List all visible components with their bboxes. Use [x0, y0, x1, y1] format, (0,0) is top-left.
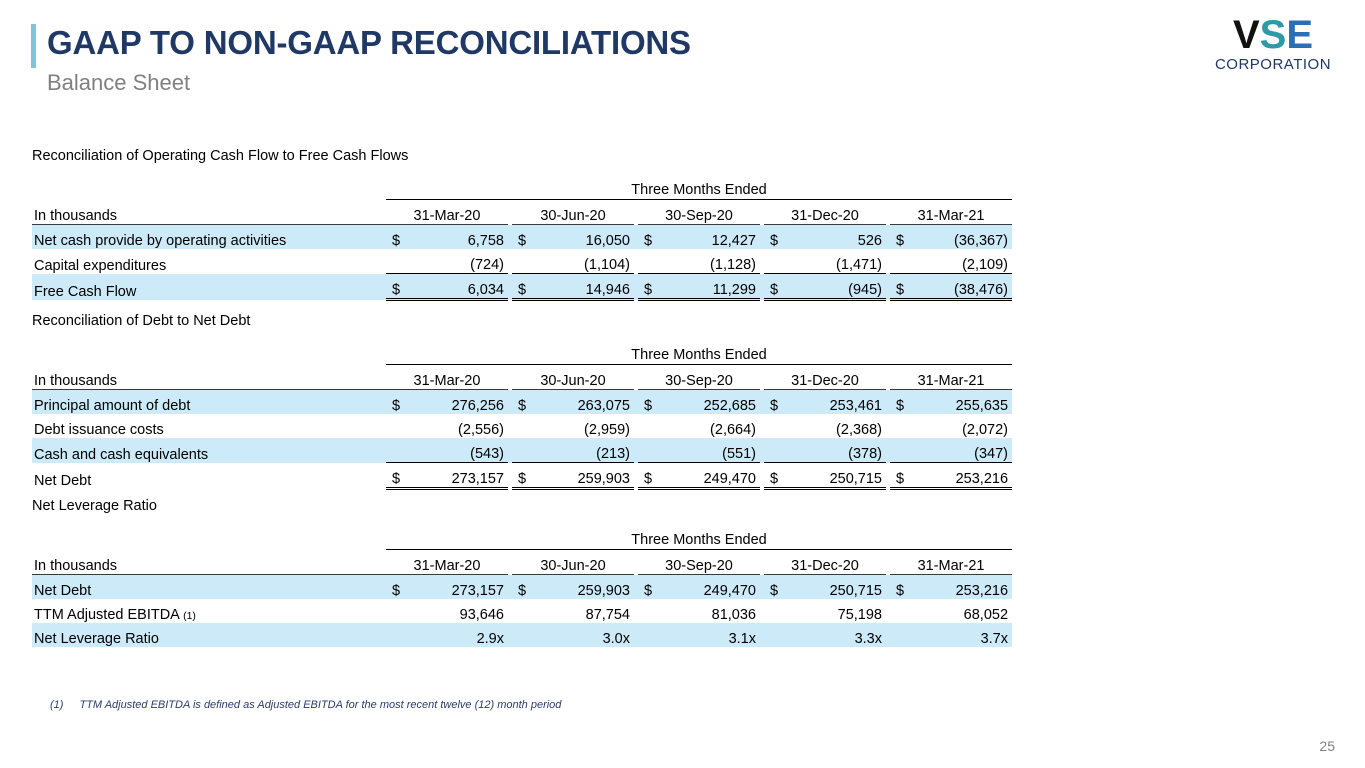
currency-symbol [764, 599, 790, 623]
currency-symbol: $ [638, 575, 664, 600]
currency-symbol [890, 414, 916, 438]
cell-value: 68,052 [916, 599, 1012, 623]
currency-symbol: $ [638, 390, 664, 415]
column-header-3: 30-Sep-20 [638, 200, 760, 225]
financial-table: Three Months EndedIn thousands31-Mar-203… [32, 524, 1012, 647]
cell-value: 3.7x [916, 623, 1012, 647]
currency-symbol [512, 438, 538, 463]
currency-symbol [512, 599, 538, 623]
currency-symbol: $ [512, 575, 538, 600]
slide-header: GAAP TO NON-GAAP RECONCILIATIONS Balance… [0, 0, 1365, 110]
reconciliation-block-leverage-ratio: Net Leverage RatioThree Months EndedIn t… [32, 498, 996, 647]
currency-symbol: $ [764, 225, 790, 250]
logo-mark: VSE [1209, 14, 1337, 56]
cell-value: 249,470 [664, 463, 760, 489]
cell-value: 81,036 [664, 599, 760, 623]
table-row: Debt issuance costs(2,556)(2,959)(2,664)… [32, 414, 1012, 438]
cell-value: (551) [664, 438, 760, 463]
column-header-5: 31-Mar-21 [890, 365, 1012, 390]
column-header-3: 30-Sep-20 [638, 365, 760, 390]
column-header-row: In thousands31-Mar-2030-Jun-2030-Sep-203… [32, 200, 1012, 225]
reconciliation-block-net-debt: Reconciliation of Debt to Net DebtThree … [32, 313, 996, 490]
cell-value: (213) [538, 438, 634, 463]
logo-letter-s: S [1260, 13, 1287, 57]
page-title: GAAP TO NON-GAAP RECONCILIATIONS [47, 24, 691, 62]
currency-symbol [638, 414, 664, 438]
cell-value: (543) [412, 438, 508, 463]
span-header-spacer [32, 174, 386, 200]
currency-symbol [512, 414, 538, 438]
cell-value: (724) [412, 249, 508, 274]
footnote-marker: (1) [50, 699, 63, 711]
currency-symbol [512, 623, 538, 647]
currency-symbol [764, 414, 790, 438]
page-subtitle: Balance Sheet [47, 70, 190, 96]
cell-value: 250,715 [790, 463, 886, 489]
page-number: 25 [1319, 738, 1335, 754]
currency-symbol: $ [764, 274, 790, 300]
currency-symbol [386, 599, 412, 623]
currency-symbol: $ [890, 274, 916, 300]
cell-value: 11,299 [664, 274, 760, 300]
title-accent-bar [31, 24, 36, 68]
cell-value: 3.1x [664, 623, 760, 647]
column-header-row: In thousands31-Mar-2030-Jun-2030-Sep-203… [32, 365, 1012, 390]
table-row: Net cash provide by operating activities… [32, 225, 1012, 250]
logo-wordmark: CORPORATION [1209, 56, 1337, 73]
row-label: Capital expenditures [32, 249, 386, 274]
currency-symbol [638, 599, 664, 623]
currency-symbol: $ [764, 463, 790, 489]
currency-symbol: $ [890, 225, 916, 250]
span-header-label: Three Months Ended [386, 339, 1012, 365]
cell-value: 249,470 [664, 575, 760, 600]
currency-symbol: $ [512, 225, 538, 250]
table-title: Reconciliation of Operating Cash Flow to… [32, 148, 996, 164]
footnote-reference: (1) [183, 610, 196, 622]
cell-value: 87,754 [538, 599, 634, 623]
currency-symbol: $ [386, 463, 412, 489]
column-header-2: 30-Jun-20 [512, 365, 634, 390]
span-header-spacer [32, 339, 386, 365]
cell-value: 250,715 [790, 575, 886, 600]
currency-symbol: $ [638, 225, 664, 250]
cell-value: (2,072) [916, 414, 1012, 438]
table-title: Reconciliation of Debt to Net Debt [32, 313, 996, 329]
column-header-5: 31-Mar-21 [890, 200, 1012, 225]
column-header-2: 30-Jun-20 [512, 200, 634, 225]
logo-letter-v: V [1233, 13, 1260, 57]
cell-value: 273,157 [412, 575, 508, 600]
row-label-header: In thousands [32, 365, 386, 390]
cell-value: 3.3x [790, 623, 886, 647]
cell-value: 252,685 [664, 390, 760, 415]
row-label: Free Cash Flow [32, 274, 386, 300]
currency-symbol: $ [890, 463, 916, 489]
cell-value: 2.9x [412, 623, 508, 647]
table-row: Principal amount of debt$276,256$263,075… [32, 390, 1012, 415]
cell-value: (945) [790, 274, 886, 300]
cell-value: 12,427 [664, 225, 760, 250]
vse-corporation-logo: VSE CORPORATION [1209, 14, 1337, 73]
table-row: Net Debt$273,157$259,903$249,470$250,715… [32, 575, 1012, 600]
cell-value: 263,075 [538, 390, 634, 415]
currency-symbol [512, 249, 538, 274]
currency-symbol [890, 438, 916, 463]
row-label: Debt issuance costs [32, 414, 386, 438]
cell-value: 14,946 [538, 274, 634, 300]
currency-symbol [890, 599, 916, 623]
cell-value: (1,471) [790, 249, 886, 274]
row-label: Principal amount of debt [32, 390, 386, 415]
cell-value: (2,959) [538, 414, 634, 438]
row-label-header: In thousands [32, 550, 386, 575]
cell-value: (38,476) [916, 274, 1012, 300]
table-title: Net Leverage Ratio [32, 498, 996, 514]
currency-symbol [638, 438, 664, 463]
cell-value: 6,034 [412, 274, 508, 300]
cell-value: 253,216 [916, 575, 1012, 600]
currency-symbol: $ [890, 575, 916, 600]
currency-symbol [638, 623, 664, 647]
column-header-4: 31-Dec-20 [764, 550, 886, 575]
currency-symbol [386, 249, 412, 274]
currency-symbol [386, 438, 412, 463]
table-row: Net Debt$273,157$259,903$249,470$250,715… [32, 463, 1012, 489]
column-header-row: In thousands31-Mar-2030-Jun-2030-Sep-203… [32, 550, 1012, 575]
cell-value: (2,664) [664, 414, 760, 438]
logo-letter-e: E [1286, 13, 1313, 57]
column-header-1: 31-Mar-20 [386, 365, 508, 390]
footnote: (1)TTM Adjusted EBITDA is defined as Adj… [50, 699, 561, 711]
financial-table: Three Months EndedIn thousands31-Mar-203… [32, 174, 1012, 301]
currency-symbol: $ [638, 463, 664, 489]
table-row: Capital expenditures(724)(1,104)(1,128)(… [32, 249, 1012, 274]
cell-value: 6,758 [412, 225, 508, 250]
reconciliation-block-cash-flow: Reconciliation of Operating Cash Flow to… [32, 148, 996, 301]
currency-symbol [764, 249, 790, 274]
span-header-spacer [32, 524, 386, 550]
span-header-row: Three Months Ended [32, 174, 1012, 200]
cell-value: 93,646 [412, 599, 508, 623]
column-header-3: 30-Sep-20 [638, 550, 760, 575]
span-header-row: Three Months Ended [32, 524, 1012, 550]
currency-symbol: $ [512, 390, 538, 415]
currency-symbol [764, 438, 790, 463]
currency-symbol: $ [386, 575, 412, 600]
cell-value: (347) [916, 438, 1012, 463]
column-header-1: 31-Mar-20 [386, 200, 508, 225]
cell-value: 526 [790, 225, 886, 250]
row-label: Net cash provide by operating activities [32, 225, 386, 250]
column-header-5: 31-Mar-21 [890, 550, 1012, 575]
table-row: Free Cash Flow$6,034$14,946$11,299$(945)… [32, 274, 1012, 300]
cell-value: (2,556) [412, 414, 508, 438]
cell-value: (2,368) [790, 414, 886, 438]
currency-symbol: $ [386, 225, 412, 250]
cell-value: 75,198 [790, 599, 886, 623]
column-header-2: 30-Jun-20 [512, 550, 634, 575]
cell-value: 255,635 [916, 390, 1012, 415]
row-label: TTM Adjusted EBITDA (1) [32, 599, 386, 623]
currency-symbol: $ [512, 274, 538, 300]
cell-value: 259,903 [538, 463, 634, 489]
currency-symbol [890, 623, 916, 647]
table-row: Cash and cash equivalents(543)(213)(551)… [32, 438, 1012, 463]
row-label: Cash and cash equivalents [32, 438, 386, 463]
cell-value: 253,461 [790, 390, 886, 415]
currency-symbol [890, 249, 916, 274]
currency-symbol: $ [386, 274, 412, 300]
currency-symbol: $ [512, 463, 538, 489]
financial-table: Three Months EndedIn thousands31-Mar-203… [32, 339, 1012, 490]
cell-value: 3.0x [538, 623, 634, 647]
footnote-text: TTM Adjusted EBITDA is defined as Adjust… [79, 699, 561, 711]
cell-value: 273,157 [412, 463, 508, 489]
cell-value: 16,050 [538, 225, 634, 250]
cell-value: (1,104) [538, 249, 634, 274]
cell-value: 276,256 [412, 390, 508, 415]
row-label-header: In thousands [32, 200, 386, 225]
row-label: Net Leverage Ratio [32, 623, 386, 647]
column-header-4: 31-Dec-20 [764, 365, 886, 390]
span-header-row: Three Months Ended [32, 339, 1012, 365]
cell-value: (2,109) [916, 249, 1012, 274]
row-label: Net Debt [32, 463, 386, 489]
currency-symbol [386, 623, 412, 647]
currency-symbol: $ [764, 390, 790, 415]
cell-value: 259,903 [538, 575, 634, 600]
cell-value: 253,216 [916, 463, 1012, 489]
span-header-label: Three Months Ended [386, 524, 1012, 550]
currency-symbol [638, 249, 664, 274]
table-row: Net Leverage Ratio2.9x3.0x3.1x3.3x3.7x [32, 623, 1012, 647]
column-header-1: 31-Mar-20 [386, 550, 508, 575]
span-header-label: Three Months Ended [386, 174, 1012, 200]
currency-symbol: $ [638, 274, 664, 300]
currency-symbol: $ [764, 575, 790, 600]
column-header-4: 31-Dec-20 [764, 200, 886, 225]
currency-symbol [386, 414, 412, 438]
row-label: Net Debt [32, 575, 386, 600]
table-row: TTM Adjusted EBITDA (1)93,64687,75481,03… [32, 599, 1012, 623]
cell-value: (36,367) [916, 225, 1012, 250]
cell-value: (1,128) [664, 249, 760, 274]
currency-symbol: $ [890, 390, 916, 415]
currency-symbol [764, 623, 790, 647]
currency-symbol: $ [386, 390, 412, 415]
cell-value: (378) [790, 438, 886, 463]
